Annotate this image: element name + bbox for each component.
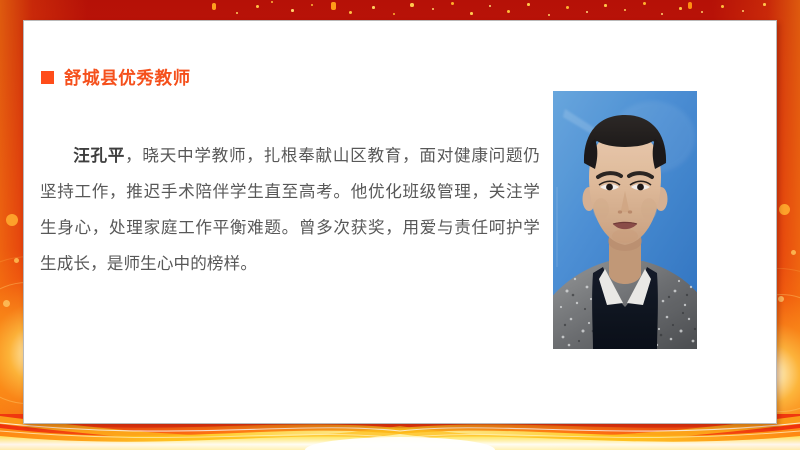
teacher-description: 汪孔平，晓天中学教师，扎根奉献山区教育，面对健康问题仍坚持工作，推迟手术陪伴学生… xyxy=(40,138,540,282)
content-card: 舒城县优秀教师 汪孔平，晓天中学教师，扎根奉献山区教育，面对健康问题仍坚持工作，… xyxy=(23,20,777,424)
section-heading-label: 舒城县优秀教师 xyxy=(64,65,191,90)
section-heading: 舒城县优秀教师 xyxy=(41,65,191,90)
teacher-name: 汪孔平 xyxy=(73,146,125,165)
slide: 舒城县优秀教师 汪孔平，晓天中学教师，扎根奉献山区教育，面对健康问题仍坚持工作，… xyxy=(0,0,800,450)
teacher-portrait-photo xyxy=(553,91,697,349)
square-bullet-icon xyxy=(41,71,54,84)
